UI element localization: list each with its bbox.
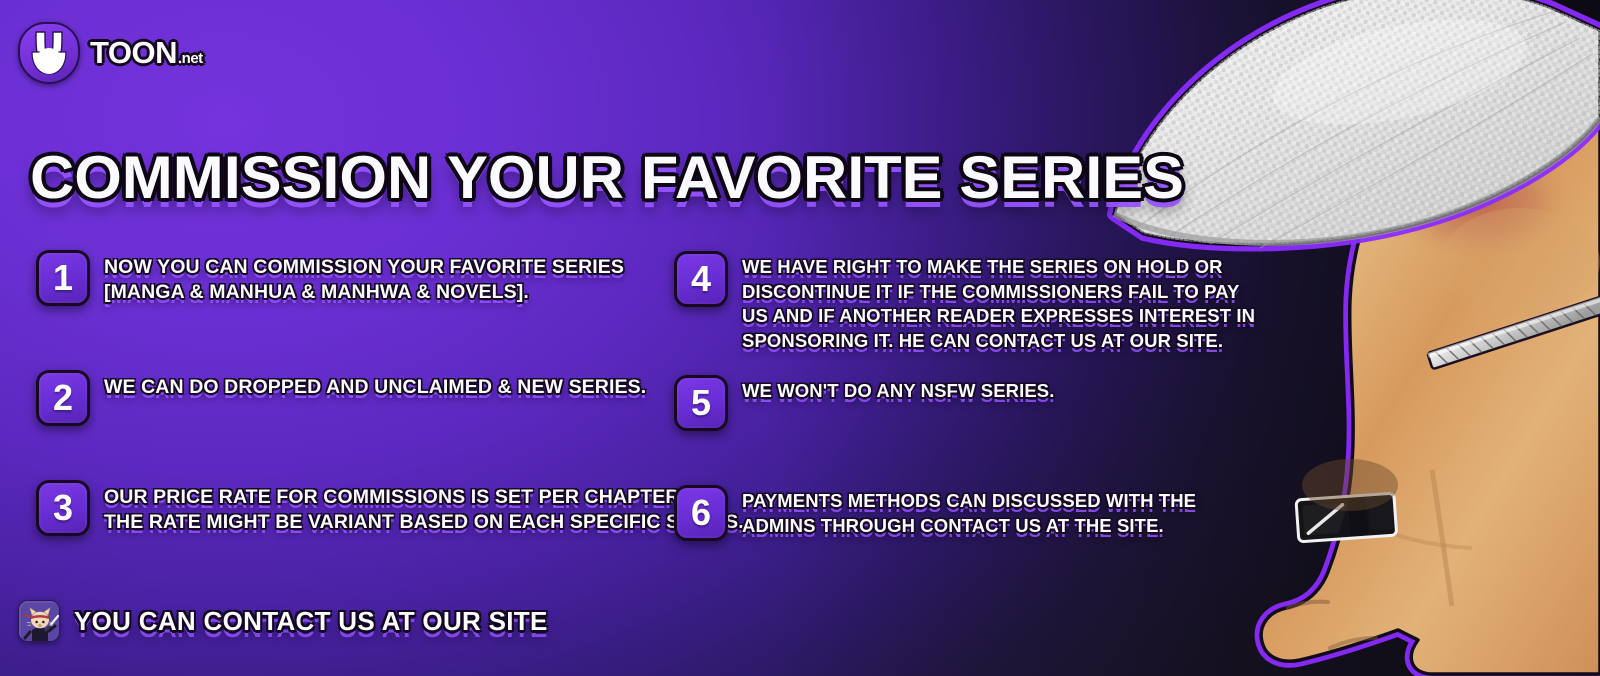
item-text: WE WON'T DO ANY NSFW SERIES.	[742, 374, 1054, 404]
item-line: THE RATE MIGHT BE VARIANT BASED ON EACH …	[104, 510, 744, 535]
item-text: PAYMENTS METHODS CAN DISCUSSED WITH THE …	[742, 484, 1196, 538]
item-text: WE CAN DO DROPPED AND UNCLAIMED & NEW SE…	[104, 370, 646, 400]
cat-samurai-avatar-icon	[18, 600, 60, 642]
item-line: ADMINS THROUGH CONTACT US AT THE SITE.	[742, 514, 1196, 539]
item-text: WE HAVE RIGHT TO MAKE THE SERIES ON HOLD…	[742, 250, 1255, 353]
item-number-badge: 5	[674, 375, 728, 431]
item-text: NOW YOU CAN COMMISSION YOUR FAVORITE SER…	[104, 250, 624, 306]
item-number-badge: 4	[674, 251, 728, 307]
item-line: PAYMENTS METHODS CAN DISCUSSED WITH THE	[742, 489, 1196, 514]
brand-name: TOON	[90, 35, 177, 71]
item-number-badge: 6	[674, 485, 728, 541]
brand-tld: .net	[178, 50, 203, 67]
item-line: NOW YOU CAN COMMISSION YOUR FAVORITE SER…	[104, 255, 624, 280]
item-line: [MANGA & MANHUA & MANHWA & NOVELS].	[104, 280, 624, 305]
item-line: SPONSORING IT. HE CAN CONTACT US AT OUR …	[742, 329, 1255, 354]
item-line: US AND IF ANOTHER READER EXPRESSES INTER…	[742, 304, 1255, 329]
item-text: OUR PRICE RATE FOR COMMISSIONS IS SET PE…	[104, 480, 744, 536]
list-item: 3 OUR PRICE RATE FOR COMMISSIONS IS SET …	[36, 480, 744, 536]
item-line: WE CAN DO DROPPED AND UNCLAIMED & NEW SE…	[104, 375, 646, 400]
contact-footer-label: YOU CAN CONTACT US AT OUR SITE	[74, 606, 548, 637]
list-item: 4 WE HAVE RIGHT TO MAKE THE SERIES ON HO…	[674, 250, 1255, 353]
item-number-badge: 2	[36, 370, 90, 426]
list-item: 1 NOW YOU CAN COMMISSION YOUR FAVORITE S…	[36, 250, 624, 306]
page-title: COMMISSION YOUR FAVORITE SERIES	[30, 148, 1184, 208]
list-item: 6 PAYMENTS METHODS CAN DISCUSSED WITH TH…	[674, 484, 1196, 541]
item-line: WE HAVE RIGHT TO MAKE THE SERIES ON HOLD…	[742, 255, 1255, 280]
list-item: 2 WE CAN DO DROPPED AND UNCLAIMED & NEW …	[36, 370, 646, 426]
toon-crescent-logo-icon	[18, 22, 80, 84]
item-line: WE WON'T DO ANY NSFW SERIES.	[742, 379, 1054, 404]
item-line: OUR PRICE RATE FOR COMMISSIONS IS SET PE…	[104, 485, 744, 510]
brand-wordmark: TOON.net	[90, 35, 203, 71]
site-logo[interactable]: TOON.net	[18, 22, 203, 84]
commission-banner: TOON.net COMMISSION YOUR FAVORITE SERIES…	[0, 0, 1600, 676]
list-item: 5 WE WON'T DO ANY NSFW SERIES.	[674, 374, 1054, 431]
item-number-badge: 3	[36, 480, 90, 536]
contact-footer[interactable]: YOU CAN CONTACT US AT OUR SITE	[18, 600, 548, 642]
item-line: DISCONTINUE IT IF THE COMMISSIONERS FAIL…	[742, 280, 1255, 305]
item-number-badge: 1	[36, 250, 90, 306]
terms-list: 1 NOW YOU CAN COMMISSION YOUR FAVORITE S…	[0, 250, 1270, 580]
